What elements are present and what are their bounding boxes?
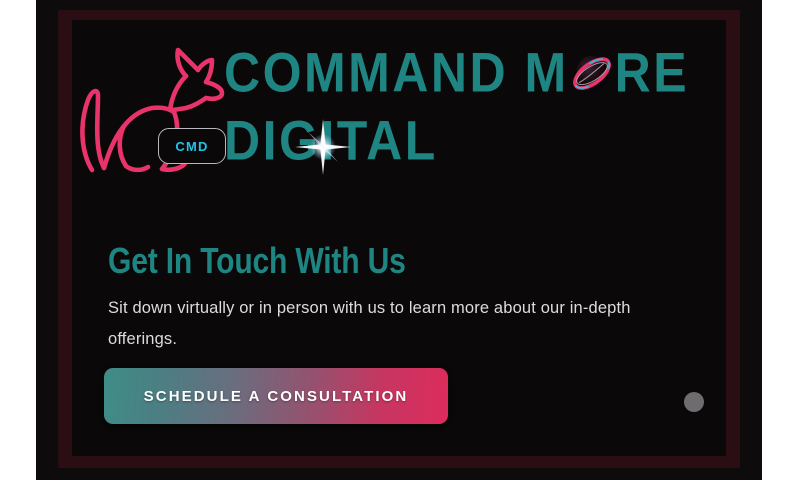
schedule-consultation-label: Schedule a Consultation [144,388,409,405]
wordmark: COMMAND M [224,40,726,180]
wordmark-line-2: DIGITAL [224,108,726,173]
chat-widget-dot[interactable] [684,392,704,412]
content-panel: CMD COMMAND M [72,20,726,456]
globe-orbit-icon [570,49,614,98]
wordmark-line-1-pre: COMMAND M [224,41,569,104]
wordmark-line-1-post: RE [615,41,689,104]
wordmark-line-1: COMMAND M [224,40,726,105]
page-title: Get In Touch With Us [108,240,406,282]
schedule-consultation-button[interactable]: Schedule a Consultation [104,368,448,424]
page-shell: CMD COMMAND M [36,0,762,480]
viewport: CMD COMMAND M [0,0,800,480]
cmd-badge: CMD [158,128,226,164]
cmd-badge-label: CMD [175,139,208,154]
intro-paragraph: Sit down virtually or in person with us … [108,293,683,355]
brand-lockup: CMD COMMAND M [72,34,726,186]
